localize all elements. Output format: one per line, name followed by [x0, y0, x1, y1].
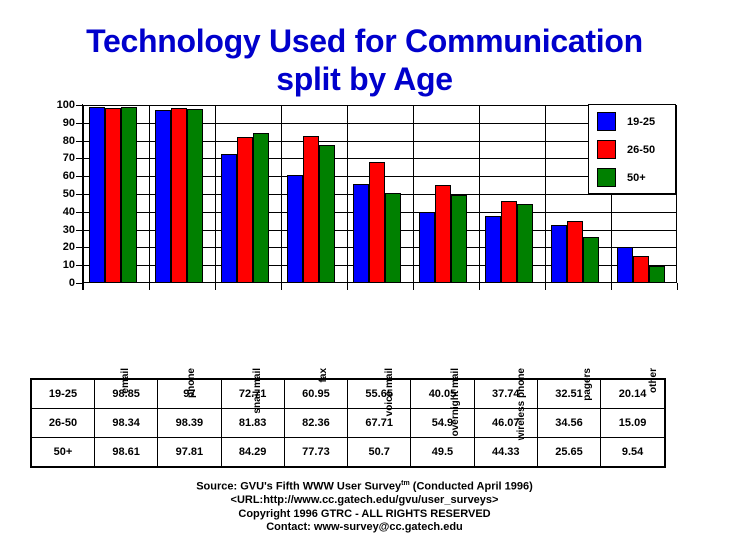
- x-tick-mark: [281, 283, 282, 290]
- bar: [567, 221, 583, 283]
- table-cell: 9.54: [601, 438, 665, 468]
- x-axis-ticks: [83, 283, 677, 291]
- bar: [287, 175, 303, 283]
- bar: [253, 133, 269, 283]
- y-tick-label: 90: [39, 118, 75, 129]
- page-title: Technology Used for Communication split …: [0, 22, 729, 98]
- table-cell: 82.36: [284, 409, 347, 438]
- table-cell: 72.71: [221, 379, 284, 409]
- table-cell: 81.83: [221, 409, 284, 438]
- table-cell: 98.39: [158, 409, 221, 438]
- bar: [121, 107, 137, 283]
- bar: [617, 247, 633, 283]
- table-cell: 55.65: [348, 379, 411, 409]
- bar: [171, 108, 187, 283]
- bar: [451, 195, 467, 283]
- bar: [633, 256, 649, 283]
- bar-group: [413, 105, 479, 283]
- footer-source-date: (Conducted April 1996): [410, 481, 533, 493]
- bar-group: [149, 105, 215, 283]
- page-title-line-1: Technology Used for Communication: [0, 22, 729, 60]
- y-tick-label: 50: [39, 189, 75, 200]
- x-tick-mark: [413, 283, 414, 290]
- table-cell: 49.5: [411, 438, 474, 468]
- bar: [435, 185, 451, 283]
- legend-swatch: [597, 140, 616, 159]
- legend-swatch: [597, 168, 616, 187]
- bar: [419, 212, 435, 283]
- bar: [237, 137, 253, 283]
- table-cell: 20.14: [601, 379, 665, 409]
- bar: [319, 145, 335, 283]
- table-cell: 54.9: [411, 409, 474, 438]
- table-cell: 50.7: [348, 438, 411, 468]
- x-tick-mark: [149, 283, 150, 290]
- table-row: 19-2598.859772.7160.9555.6540.0537.7432.…: [31, 379, 665, 409]
- footer-source-text: Source: GVU's Fifth WWW User Survey: [196, 481, 401, 493]
- table-cell: 97.81: [158, 438, 221, 468]
- page-title-line-2: split by Age: [0, 60, 729, 98]
- bar: [221, 154, 237, 283]
- bar: [583, 237, 599, 283]
- x-tick-mark: [479, 283, 480, 290]
- footer-source-line: Source: GVU's Fifth WWW User Surveytm (C…: [0, 477, 729, 494]
- y-tick-label: 30: [39, 225, 75, 236]
- x-tick-mark: [611, 283, 612, 290]
- bar-group: [83, 105, 149, 283]
- table-cell: 77.73: [284, 438, 347, 468]
- bar: [501, 201, 517, 283]
- bar: [89, 107, 105, 283]
- y-tick-label: 10: [39, 260, 75, 271]
- bar: [551, 225, 567, 283]
- footer-url-line: <URL:http://www.cc.gatech.edu/gvu/user_s…: [0, 494, 729, 508]
- data-table: 19-2598.859772.7160.9555.6540.0537.7432.…: [30, 378, 666, 468]
- table-row: 26-5098.3498.3981.8382.3667.7154.946.073…: [31, 409, 665, 438]
- y-tick-label: 100: [39, 100, 75, 111]
- bar: [155, 110, 171, 283]
- table-cell: 84.29: [221, 438, 284, 468]
- table-cell: 67.71: [348, 409, 411, 438]
- bar: [385, 193, 401, 283]
- legend-label: 19-25: [627, 116, 655, 128]
- table-row: 50+98.6197.8184.2977.7350.749.544.3325.6…: [31, 438, 665, 468]
- y-tick-label: 20: [39, 242, 75, 253]
- bar: [187, 109, 203, 283]
- x-tick-mark: [215, 283, 216, 290]
- bar: [485, 216, 501, 283]
- y-tick-label: 60: [39, 171, 75, 182]
- x-axis-labels: emailphonesnail mailfaxvoice mailovernig…: [83, 292, 677, 372]
- trademark-superscript: tm: [401, 480, 410, 487]
- bar-group: [347, 105, 413, 283]
- y-tick-label: 40: [39, 207, 75, 218]
- table-row-header: 19-25: [31, 379, 95, 409]
- legend: 19-2526-5050+: [588, 104, 676, 194]
- bar-group: [479, 105, 545, 283]
- legend-label: 26-50: [627, 144, 655, 156]
- y-tick-label: 0: [39, 278, 75, 289]
- y-axis: 0102030405060708090100: [40, 98, 82, 290]
- bar: [303, 136, 319, 283]
- table-cell: 37.74: [474, 379, 537, 409]
- x-tick-mark: [677, 283, 678, 290]
- table-row-header: 26-50: [31, 409, 95, 438]
- table-cell: 25.65: [537, 438, 600, 468]
- table-cell: 40.05: [411, 379, 474, 409]
- table-cell: 97: [158, 379, 221, 409]
- table-cell: 34.56: [537, 409, 600, 438]
- table-row-header: 50+: [31, 438, 95, 468]
- bar-group: [281, 105, 347, 283]
- x-tick-mark: [347, 283, 348, 290]
- table-cell: 44.33: [474, 438, 537, 468]
- x-tick-mark: [545, 283, 546, 290]
- legend-label: 50+: [627, 172, 646, 184]
- data-table-body: 19-2598.859772.7160.9555.6540.0537.7432.…: [31, 379, 665, 467]
- table-cell: 32.51: [537, 379, 600, 409]
- table-cell: 46.07: [474, 409, 537, 438]
- bar: [353, 184, 369, 283]
- bar: [105, 108, 121, 283]
- bar-group: [215, 105, 281, 283]
- footer: Source: GVU's Fifth WWW User Surveytm (C…: [0, 477, 729, 535]
- footer-contact-line: Contact: www-survey@cc.gatech.edu: [0, 521, 729, 535]
- y-tick-label: 80: [39, 136, 75, 147]
- table-cell: 98.61: [95, 438, 158, 468]
- y-tick-label: 70: [39, 153, 75, 164]
- table-cell: 98.34: [95, 409, 158, 438]
- table-cell: 60.95: [284, 379, 347, 409]
- x-tick-mark: [83, 283, 84, 290]
- bar: [649, 266, 665, 283]
- bar: [517, 204, 533, 283]
- bar: [369, 162, 385, 283]
- legend-swatch: [597, 112, 616, 131]
- table-cell: 98.85: [95, 379, 158, 409]
- footer-copyright-line: Copyright 1996 GTRC - ALL RIGHTS RESERVE…: [0, 508, 729, 522]
- table-cell: 15.09: [601, 409, 665, 438]
